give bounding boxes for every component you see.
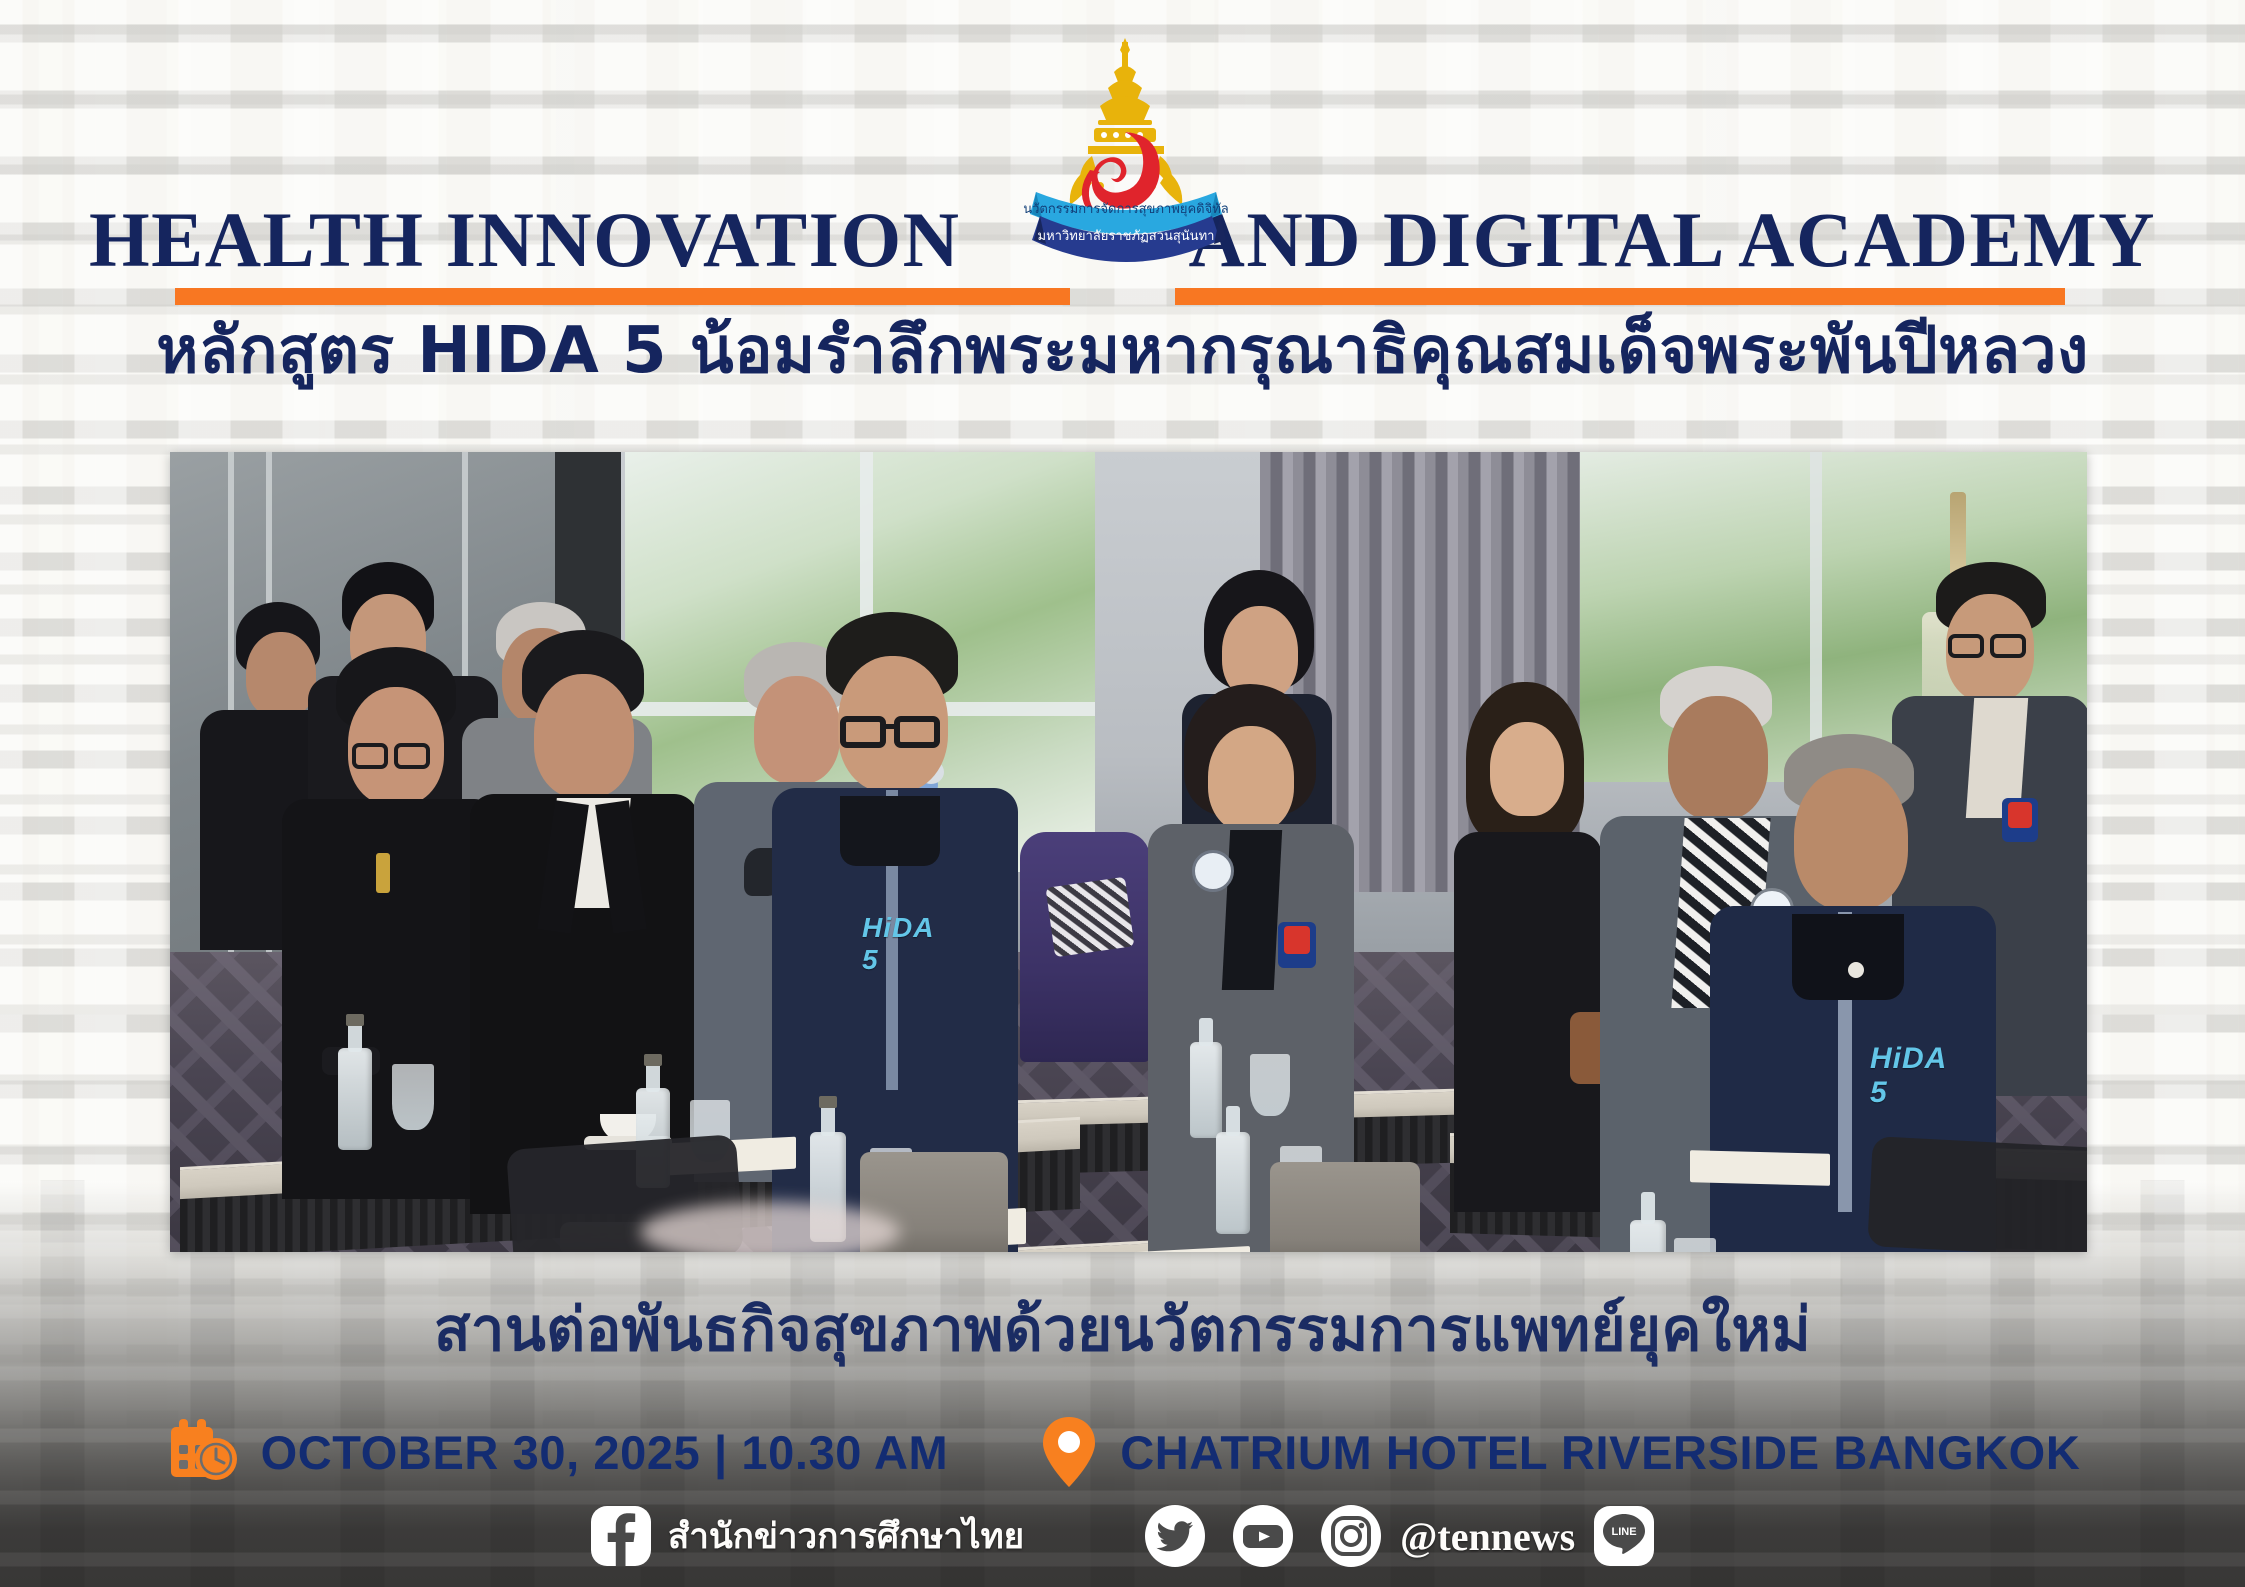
- photo-bag-right: [1867, 1136, 2087, 1252]
- photo-bottle-2-neck: [646, 1062, 660, 1092]
- photo-bottle-1-neck: [348, 1022, 362, 1052]
- logo-ribbon-bottom-text: มหาวิทยาลัยราชภัฏสวนสุนันทา: [1038, 229, 1215, 244]
- event-poster: HEALTH INNOVATION AND DIGITAL ACADEMY: [0, 0, 2245, 1587]
- photo-bottle-5-neck: [1226, 1106, 1240, 1136]
- info-row: OCTOBER 30, 2025 | 10.30 AM CHATRIUM HOT…: [0, 1396, 2245, 1508]
- thai-subtitle: สานต่อพันธกิจสุขภาพด้วยนวัตกรรมการแพทย์ย…: [0, 1282, 2245, 1377]
- photo-bottle-1: [338, 1048, 372, 1150]
- photo-bottle-3-cap: [819, 1096, 837, 1108]
- header-title-right: AND DIGITAL ACADEMY: [1188, 201, 2155, 279]
- photo-pillow-1: [1046, 877, 1135, 957]
- twitter-icon[interactable]: [1144, 1505, 1206, 1567]
- photo-bottle-6-neck: [1641, 1192, 1655, 1224]
- thai-headline: หลักสูตร HIDA 5 น้อมรำลึกพระมหากรุณาธิคุ…: [0, 318, 2245, 385]
- header-title-left: HEALTH INNOVATION: [89, 201, 960, 279]
- photo-bottle-3-neck: [821, 1104, 835, 1136]
- line-icon-label: LINE: [1612, 1526, 1637, 1538]
- info-venue: CHATRIUM HOTEL RIVERSIDE BANGKOK: [1040, 1415, 2080, 1489]
- photo-bottle-4-neck: [1199, 1018, 1213, 1046]
- emblem-icon: นวัตกรรมการจัดการสุขภาพยุคดิจิทัล มหาวิท…: [1022, 36, 1230, 276]
- photo-chair-2: [1270, 1162, 1420, 1252]
- photo-jacket-logo-text: HiDA 5: [862, 912, 933, 976]
- photo-glass-1: [392, 1064, 434, 1130]
- social-facebook[interactable]: สำนักข่าวการศึกษาไทย: [590, 1505, 1024, 1567]
- photo-glass-4: [1250, 1054, 1290, 1116]
- info-venue-text: CHATRIUM HOTEL RIVERSIDE BANGKOK: [1120, 1425, 2080, 1480]
- event-photo: HiDA 5: [170, 452, 2087, 1252]
- photo-bottle-5: [1216, 1132, 1250, 1234]
- header-rule-right: [1175, 288, 2065, 305]
- facebook-page-name: สำนักข่าวการศึกษาไทย: [668, 1509, 1024, 1564]
- photo-bottle-2-cap: [644, 1054, 662, 1066]
- social-youtube[interactable]: [1232, 1505, 1294, 1567]
- social-row: สำนักข่าวการศึกษาไทย: [0, 1496, 2245, 1576]
- map-pin-icon: [1040, 1415, 1098, 1489]
- social-twitter[interactable]: [1144, 1505, 1206, 1567]
- facebook-icon[interactable]: [590, 1505, 652, 1567]
- logo-ribbon-top-text: นวัตกรรมการจัดการสุขภาพยุคดิจิทัล: [1023, 202, 1229, 217]
- info-datetime: OCTOBER 30, 2025 | 10.30 AM: [165, 1417, 949, 1487]
- ssru-hida-logo: นวัตกรรมการจัดการสุขภาพยุคดิจิทัล มหาวิท…: [1022, 36, 1230, 276]
- instagram-icon[interactable]: [1320, 1505, 1382, 1567]
- photo-paper-4: [1690, 1150, 1830, 1186]
- header-rule-left: [175, 288, 1070, 305]
- social-line[interactable]: LINE: [1593, 1505, 1655, 1567]
- photo-window-right-mullion: [1810, 452, 1822, 782]
- calendar-clock-icon: [165, 1417, 239, 1487]
- photo-bottle-6: [1630, 1220, 1666, 1252]
- photo-glass-6: [1674, 1238, 1716, 1252]
- photo-bottle-1-cap: [346, 1014, 364, 1026]
- line-icon[interactable]: LINE: [1593, 1505, 1655, 1567]
- photo-bottle-4: [1190, 1042, 1222, 1138]
- info-datetime-text: OCTOBER 30, 2025 | 10.30 AM: [261, 1425, 949, 1480]
- youtube-icon[interactable]: [1232, 1505, 1294, 1567]
- instagram-handle: @tennews: [1400, 1513, 1575, 1560]
- social-instagram[interactable]: @tennews: [1320, 1505, 1593, 1567]
